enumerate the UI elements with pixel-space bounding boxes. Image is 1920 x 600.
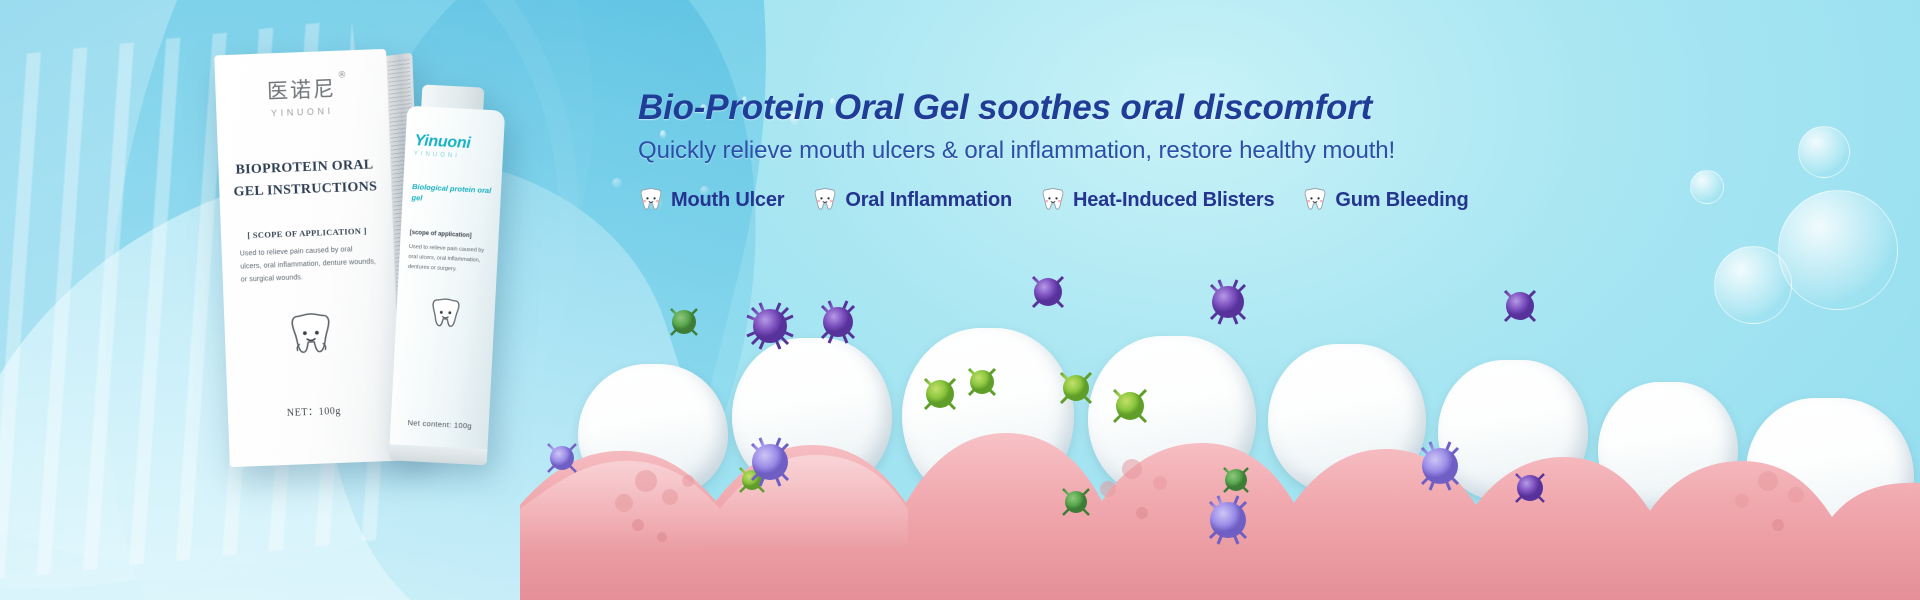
box-title-line-2: GEL INSTRUCTIONS [233, 176, 378, 203]
product-banner: 医诺尼 ® YINUONI BIOPROTEIN ORAL GEL INSTRU… [0, 0, 1920, 600]
product-box-package: 医诺尼 ® YINUONI BIOPROTEIN ORAL GEL INSTRU… [214, 49, 402, 467]
tooth-icon [638, 187, 664, 213]
feature-badge-3[interactable]: Heat-Induced Blisters [1040, 187, 1274, 213]
box-net-content: NET：100g [228, 400, 400, 422]
tube-scope-heading: [scope of application] [410, 229, 490, 239]
feature-badge-4[interactable]: Gum Bleeding [1302, 187, 1468, 213]
tooth-icon [812, 187, 838, 213]
box-brand-english: YINUONI [230, 104, 374, 120]
tube-body-text: Used to relieve pain caused by oral ulce… [408, 241, 490, 276]
box-scope-heading: [ SCOPE OF APPLICATION ] [235, 226, 379, 242]
box-body-text: Used to relieve pain caused by oral ulce… [236, 244, 381, 288]
feature-badge-label: Oral Inflammation [845, 189, 1012, 212]
banner-headline: Bio-Protein Oral Gel soothes oral discom… [638, 88, 1458, 128]
box-brand-chinese: 医诺尼 ® [266, 73, 336, 106]
tooth-mascot-icon [430, 296, 462, 332]
marketing-copy-block: Bio-Protein Oral Gel soothes oral discom… [638, 88, 1458, 213]
bubble-decoration [1690, 170, 1724, 204]
tooth-icon [1040, 187, 1066, 213]
tooth-icon [1302, 187, 1328, 213]
banner-subtitle: Quickly relieve mouth ulcers & oral infl… [638, 137, 1458, 165]
product-tube-package: Yinuoni YINUONI Biological protein oral … [389, 106, 505, 466]
tube-tagline: Biological protein oral gel [411, 181, 492, 208]
water-droplet [612, 178, 622, 188]
feature-badge-1[interactable]: Mouth Ulcer [638, 187, 784, 213]
feature-badge-label: Mouth Ulcer [671, 189, 784, 212]
bacteria-cluster [520, 270, 1920, 600]
registered-trademark-icon: ® [337, 70, 348, 80]
tooth-mascot-icon [289, 310, 333, 360]
tube-mascot [405, 295, 487, 333]
bubble-decoration [1798, 126, 1850, 178]
feature-badge-label: Heat-Induced Blisters [1073, 189, 1274, 212]
feature-badge-label: Gum Bleeding [1335, 189, 1468, 212]
teeth-and-gums-illustration [520, 270, 1920, 600]
box-product-title: BIOPROTEIN ORAL GEL INSTRUCTIONS [232, 154, 378, 203]
box-mascot [238, 308, 384, 361]
feature-badge-list: Mouth Ulcer Oral Inflammation Heat-Induc… [638, 187, 1458, 213]
feature-badge-2[interactable]: Oral Inflammation [812, 187, 1012, 213]
